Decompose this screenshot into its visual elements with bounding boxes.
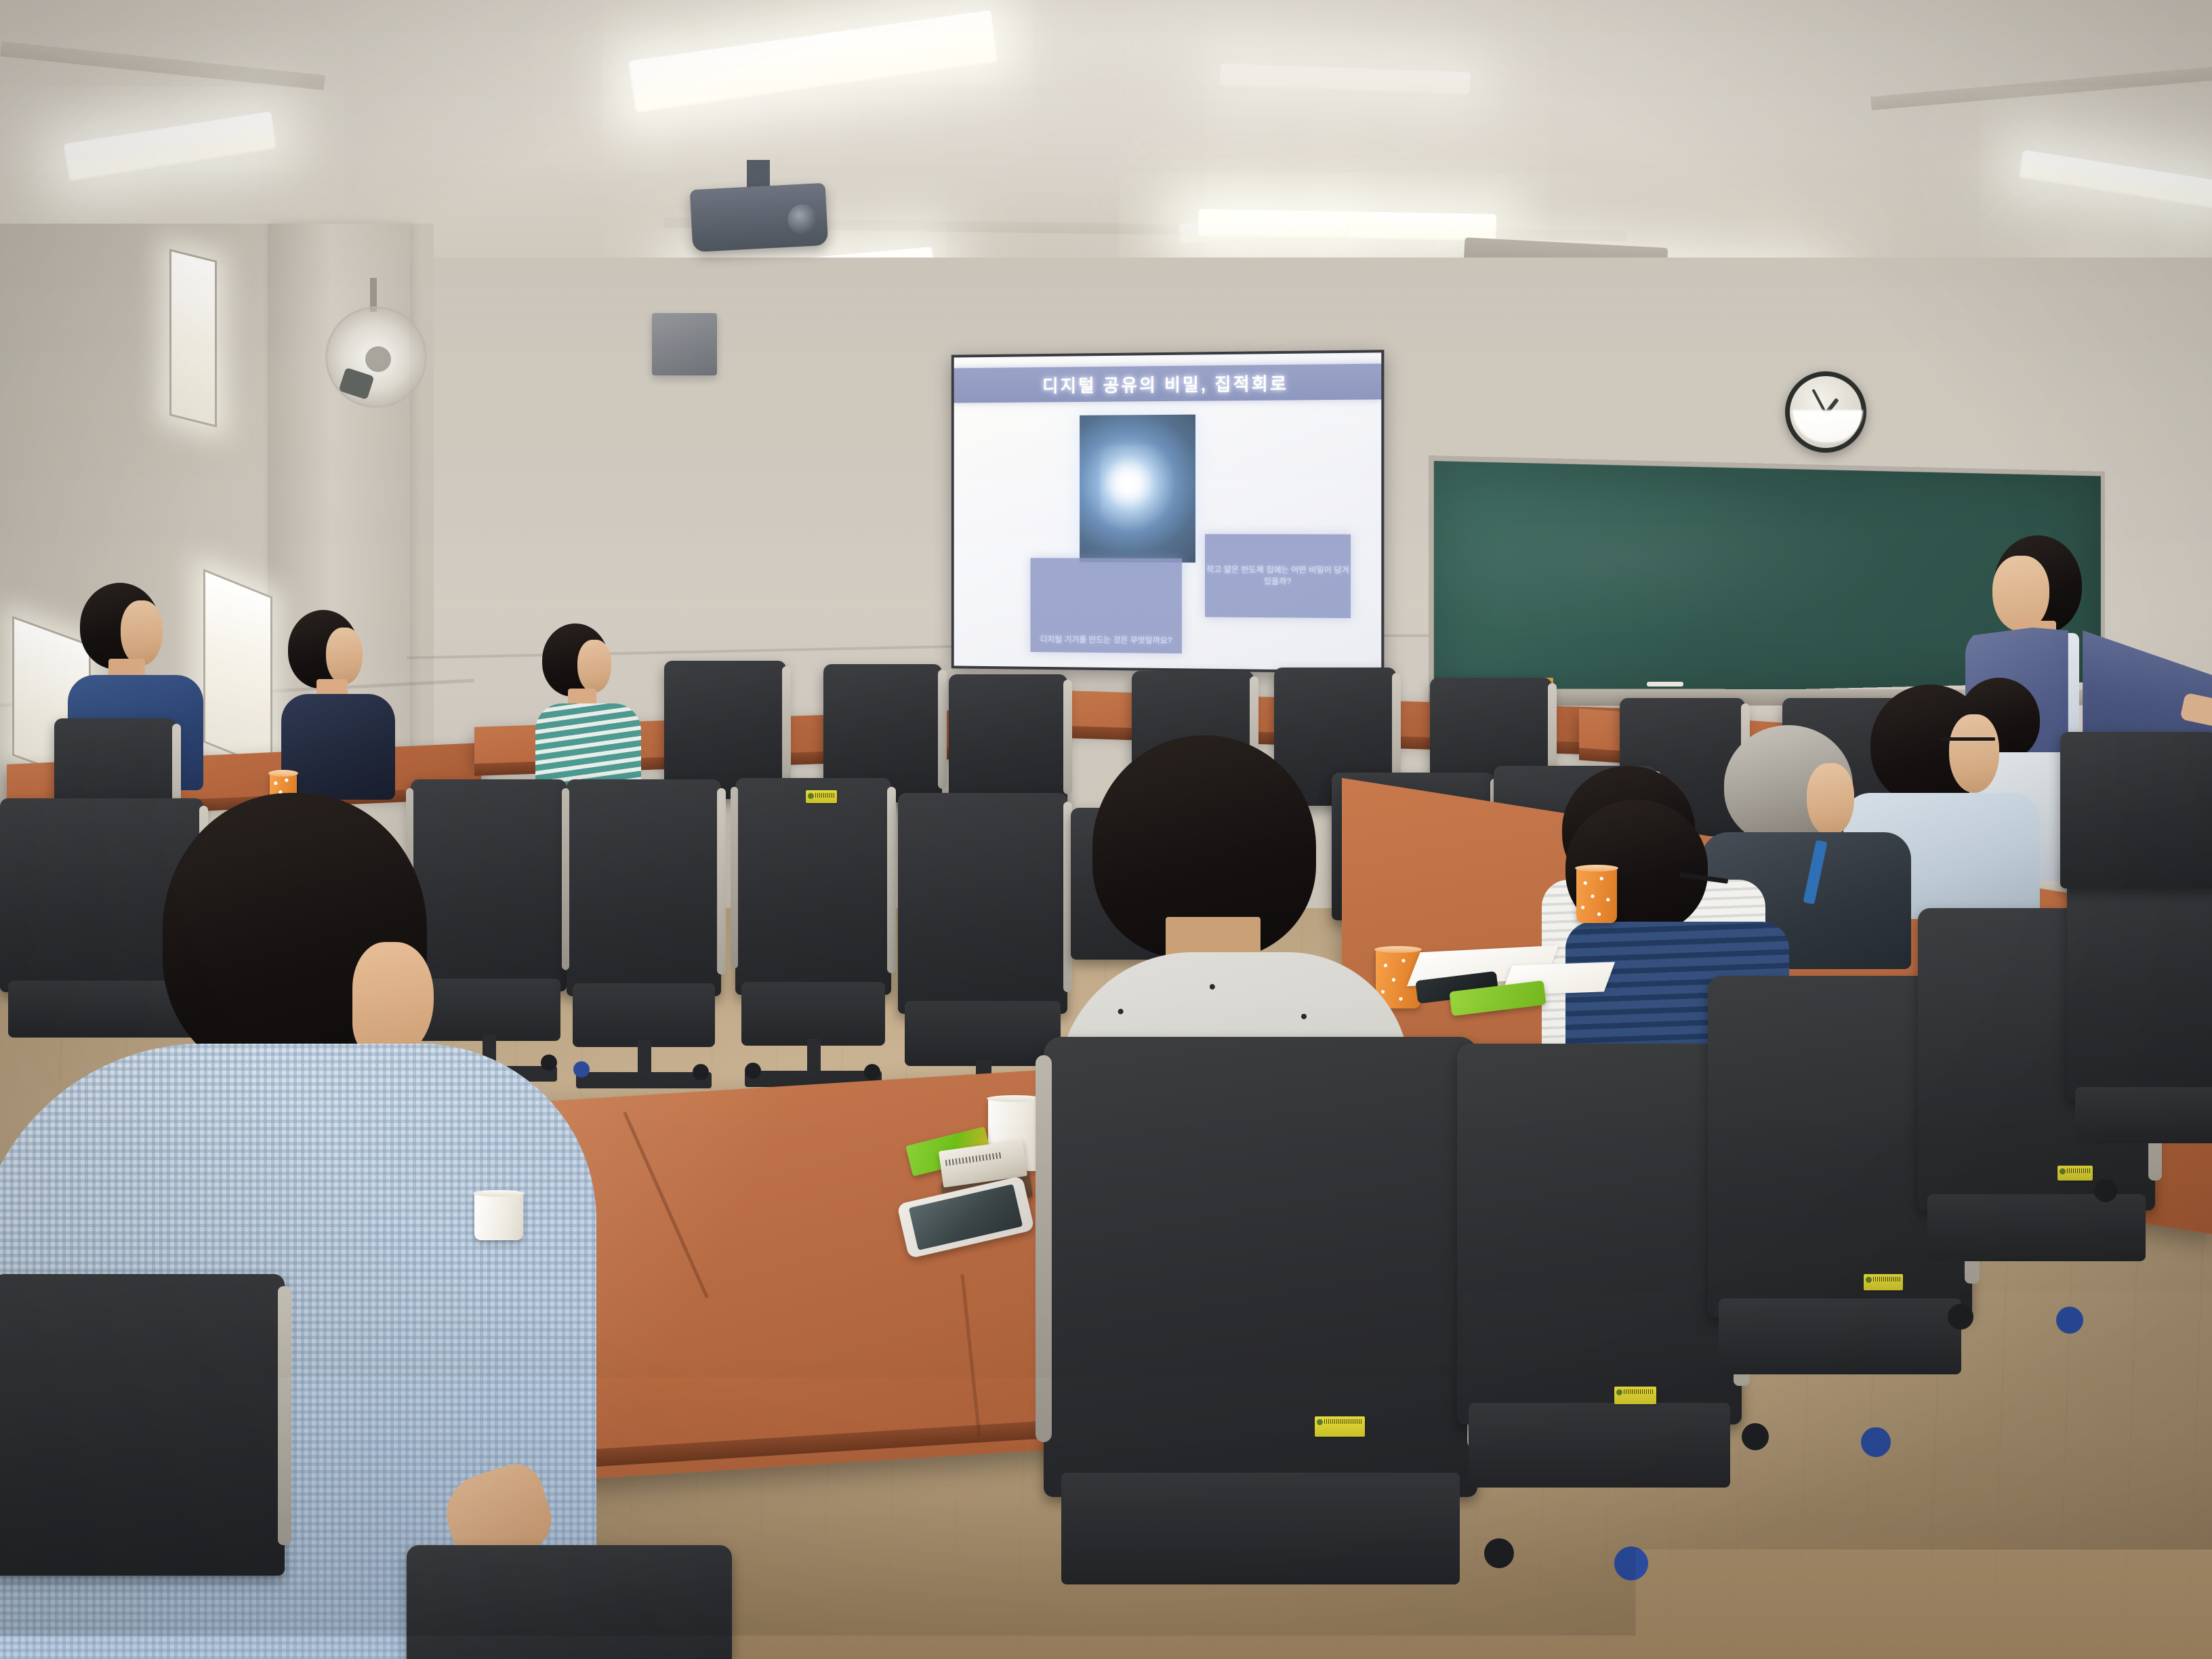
chair-caster bbox=[693, 1064, 709, 1080]
chair-caster-blue bbox=[1861, 1427, 1891, 1457]
chair-trim bbox=[938, 670, 947, 788]
asset-tag bbox=[806, 790, 837, 803]
chalk-stick bbox=[1647, 682, 1683, 687]
slide-text-box-right: 작고 얇은 반도체 칩에는 어떤 비밀이 담겨있을까? bbox=[1205, 534, 1351, 618]
clock-glare bbox=[1793, 410, 1863, 443]
slide-photo bbox=[1080, 415, 1195, 563]
wall-clock bbox=[1785, 371, 1866, 453]
chair-backrest bbox=[949, 674, 1067, 808]
chair-backrest bbox=[1044, 1037, 1477, 1497]
slide-text-right: 작고 얇은 반도체 칩에는 어떤 비밀이 담겨있을까? bbox=[1205, 564, 1351, 588]
chair-trim bbox=[278, 1286, 291, 1545]
wall-fan bbox=[325, 306, 441, 408]
chair-seat bbox=[1927, 1194, 2146, 1261]
chair-backrest bbox=[407, 1545, 732, 1659]
slide-title: 디지털 공유의 비밀, 집적회로 bbox=[1042, 370, 1288, 397]
chair-caster bbox=[864, 1064, 880, 1080]
paper-cup-orange-1[interactable] bbox=[1576, 867, 1617, 923]
chair-right-5[interactable] bbox=[2060, 732, 2212, 962]
chair-trim bbox=[887, 787, 896, 973]
chair-seat bbox=[1469, 1403, 1730, 1488]
chair-right-1[interactable] bbox=[1457, 1044, 1742, 1572]
seminar-room-photo: 디지털 공유의 비밀, 집적회로 디지털 기기를 만드는 것은 무엇일까요? 작… bbox=[0, 0, 2212, 1659]
face bbox=[326, 628, 363, 684]
chair-backrest bbox=[1457, 1044, 1742, 1425]
asset-tag bbox=[1864, 1274, 1903, 1290]
chair-backrest bbox=[0, 1274, 285, 1576]
chair-caster bbox=[2094, 1179, 2117, 1202]
torso bbox=[281, 694, 395, 800]
chair-seat bbox=[905, 1001, 1061, 1066]
chair-foreground-left[interactable] bbox=[0, 1274, 285, 1659]
chair-seat bbox=[2075, 1087, 2212, 1143]
fan-hub bbox=[365, 346, 391, 372]
chair-mid-4[interactable] bbox=[735, 778, 891, 1097]
face bbox=[1807, 763, 1854, 836]
ear-and-cheek bbox=[352, 942, 434, 1057]
asset-tag bbox=[1315, 1416, 1365, 1437]
slide-title-bar: 디지털 공유의 비밀, 집적회로 bbox=[954, 364, 1382, 403]
chair-seat bbox=[741, 982, 885, 1046]
projector-lens-icon bbox=[787, 204, 818, 235]
paper-cup-held[interactable] bbox=[474, 1193, 523, 1240]
face bbox=[577, 640, 611, 693]
chair-backrest bbox=[735, 778, 891, 995]
chair-trim bbox=[717, 788, 726, 975]
wall-speaker bbox=[652, 313, 717, 375]
chair-trim-left bbox=[1036, 1055, 1052, 1442]
chair-backrest bbox=[898, 793, 1067, 1014]
chair-seat bbox=[1061, 1473, 1460, 1584]
asset-tag bbox=[1614, 1387, 1656, 1404]
window-upper-left bbox=[169, 249, 217, 427]
glasses bbox=[1940, 737, 1995, 741]
slide-text-left: 디지털 기기를 만드는 것은 무엇일까요? bbox=[1040, 634, 1172, 647]
face bbox=[121, 600, 163, 665]
fan-blades bbox=[325, 306, 427, 408]
chair-caster bbox=[1948, 1304, 1973, 1330]
projector bbox=[690, 183, 829, 252]
chair-backrest bbox=[2060, 732, 2212, 888]
chair-caster bbox=[745, 1063, 761, 1079]
attendee-back-left-2 bbox=[281, 610, 410, 800]
slide-text-box-left: 디지털 기기를 만드는 것은 무엇일까요? bbox=[1030, 558, 1182, 653]
projection-screen-surface: 디지털 공유의 비밀, 집적회로 디지털 기기를 만드는 것은 무엇일까요? 작… bbox=[954, 352, 1382, 670]
chair-caster bbox=[1484, 1538, 1514, 1568]
projection-screen: 디지털 공유의 비밀, 집적회로 디지털 기기를 만드는 것은 무엇일까요? 작… bbox=[951, 350, 1385, 674]
chair-trim-left bbox=[731, 787, 738, 968]
chair-caster-blue bbox=[2056, 1307, 2083, 1334]
chair-trim bbox=[782, 666, 791, 785]
chair-foreground-centre[interactable] bbox=[1044, 1037, 1477, 1659]
attendee-back-left-3 bbox=[535, 623, 657, 800]
chair-caster-blue bbox=[1614, 1547, 1648, 1580]
face bbox=[1949, 714, 1999, 793]
chair-caster bbox=[1742, 1423, 1769, 1450]
chair-bottom-centre[interactable] bbox=[407, 1545, 732, 1659]
